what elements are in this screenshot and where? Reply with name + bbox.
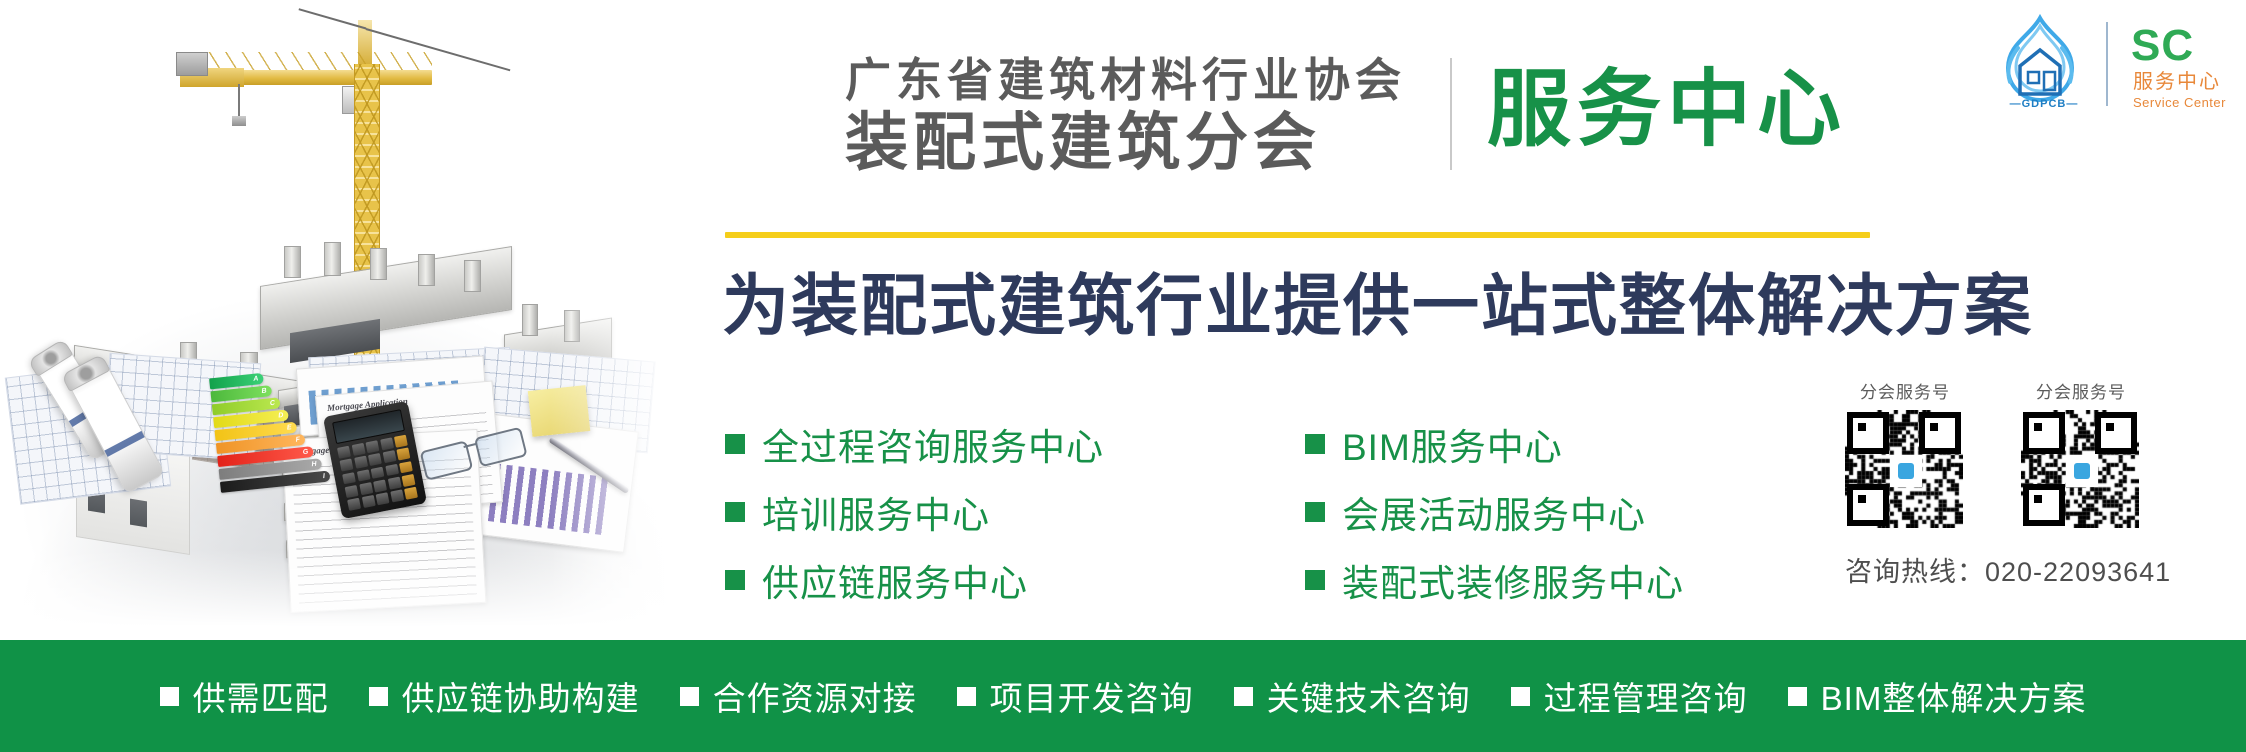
roof-column [284,246,301,278]
service-item-label: 全过程咨询服务中心 [762,417,1104,471]
crane-counterweight [176,52,208,76]
qr-code-item: 分会服务号 [1845,378,1965,528]
footer-bar: 供需匹配 供应链协助构建 合作资源对接 项目开发咨询 关键技术咨询 过程管理咨询… [0,640,2246,752]
association-name-line2: 装配式建筑分会 [845,108,1465,179]
service-item[interactable]: 供应链服务中心 [725,546,1104,614]
service-item-label: BIM服务中心 [1342,417,1563,471]
calculator-keys [337,435,418,511]
energy-rating-chart-icon: A B C D E F G H I [209,366,339,498]
footer-item[interactable]: 供应链协助构建 [369,672,640,720]
square-bullet-icon [1305,502,1325,522]
construction-photo: Mortgage Application Mortgage Applicatio… [0,0,700,640]
service-list-left: 全过程咨询服务中心 培训服务中心 供应链服务中心 [725,410,1104,614]
qr-code-section: 分会服务号 分会服务号 [1845,378,2235,528]
logo: —GDPCB— SC 服务中心 Service Center [1988,14,2236,116]
roof-column [464,260,481,292]
qr-finder-tr [1919,412,1961,454]
square-bullet-icon [680,687,699,706]
qr-code-item: 分会服务号 [2021,378,2141,528]
footer-item-label: 关键技术咨询 [1267,672,1471,720]
qr-caption: 分会服务号 [1845,378,1965,403]
footer-item[interactable]: BIM整体解决方案 [1788,672,2087,720]
square-bullet-icon [1511,687,1530,706]
footer-item-label: 项目开发咨询 [990,672,1194,720]
qr-center-logo [2066,455,2098,487]
photo-fade-right [550,0,700,640]
footer-item-label: 过程管理咨询 [1544,672,1748,720]
qr-finder-tl [2023,412,2065,454]
footer-item-label: 合作资源对接 [713,672,917,720]
service-item[interactable]: BIM服务中心 [1305,410,1684,478]
service-list-right: BIM服务中心 会展活动服务中心 装配式装修服务中心 [1305,410,1684,614]
qr-code-icon[interactable] [1845,410,1963,528]
service-item-label: 培训服务中心 [762,485,990,539]
logo-gdpcb-text: —GDPCB— [1992,98,2096,110]
square-bullet-icon [1788,687,1807,706]
service-center-banner: Mortgage Application Mortgage Applicatio… [0,0,2246,752]
photo-fade-bottom [0,550,700,640]
qr-finder-tl [1847,412,1889,454]
square-bullet-icon [160,687,179,706]
hotline-text: 咨询热线：020-22093641 [1845,550,2171,589]
service-item-label: 会展活动服务中心 [1342,485,1646,539]
qr-center-logo [1890,455,1922,487]
roof-column [370,248,387,280]
logo-sc-text: SC [2131,24,2194,68]
square-bullet-icon [725,570,745,590]
square-bullet-icon [1234,687,1253,706]
gold-divider-rule [725,232,1870,238]
square-bullet-icon [1305,434,1325,454]
roof-column [418,254,435,286]
service-item-label: 供应链服务中心 [762,553,1028,607]
association-title: 广东省建筑材料行业协会 装配式建筑分会 [845,52,1465,179]
footer-item[interactable]: 关键技术咨询 [1234,672,1471,720]
footer-item[interactable]: 供需匹配 [160,672,329,720]
qr-finder-bl [1847,484,1889,526]
roof-column [324,242,341,276]
footer-item-label: 供应链协助构建 [402,672,640,720]
footer-item-label: 供需匹配 [193,672,329,720]
roll-band [104,431,144,457]
square-bullet-icon [725,502,745,522]
service-item[interactable]: 全过程咨询服务中心 [725,410,1104,478]
headline-slogan: 为装配式建筑行业提供一站式整体解决方案 [722,252,2033,349]
service-center-title: 服务中心 [1487,58,1847,160]
qr-finder-bl [2023,484,2065,526]
association-name-line1: 广东省建筑材料行业协会 [845,52,1465,108]
service-item[interactable]: 会展活动服务中心 [1305,478,1684,546]
glasses-lens-right [474,427,528,468]
roof-column [522,304,538,336]
logo-divider [2106,22,2108,106]
logo-english-text: Service Center [2133,96,2226,109]
service-item[interactable]: 培训服务中心 [725,478,1104,546]
service-item-label: 装配式装修服务中心 [1342,553,1684,607]
footer-item[interactable]: 合作资源对接 [680,672,917,720]
footer-item-label: BIM整体解决方案 [1821,672,2087,720]
crane-tie-back [299,9,367,30]
qr-caption: 分会服务号 [2021,378,2141,403]
square-bullet-icon [725,434,745,454]
square-bullet-icon [957,687,976,706]
crane-hook [232,116,246,126]
qr-code-icon[interactable] [2021,410,2139,528]
square-bullet-icon [369,687,388,706]
crane-hoist-cable [238,84,240,120]
footer-item[interactable]: 过程管理咨询 [1511,672,1748,720]
footer-item[interactable]: 项目开发咨询 [957,672,1194,720]
title-divider [1450,58,1452,170]
square-bullet-icon [1305,570,1325,590]
qr-finder-tr [2095,412,2137,454]
service-item[interactable]: 装配式装修服务中心 [1305,546,1684,614]
logo-chinese-text: 服务中心 [2133,72,2221,92]
